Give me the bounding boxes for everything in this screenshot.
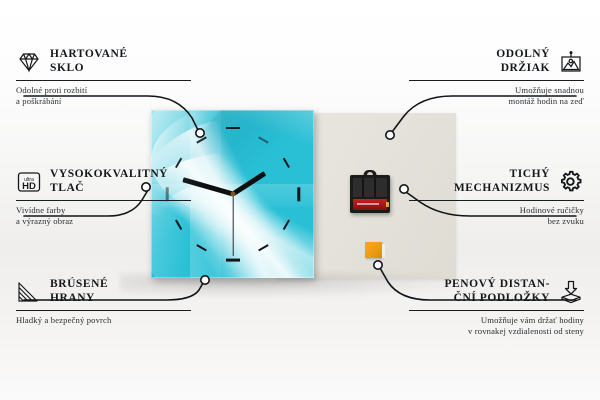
divider xyxy=(16,200,191,201)
feature-foam-spacers: PENOVÝ DISTAN- ČNÍ PODLOŽKY Umožňuje vám… xyxy=(409,278,584,336)
divider xyxy=(16,80,191,81)
gear-icon xyxy=(558,169,584,195)
connector-dot-mechanism xyxy=(400,185,408,193)
divider xyxy=(409,310,584,311)
feature-title: BRÚSENÉ HRANY xyxy=(50,278,108,305)
diamond-icon xyxy=(16,49,42,75)
wall-frame-icon xyxy=(558,49,584,75)
divider xyxy=(409,80,584,81)
feature-silent-mechanism: TICHÝ MECHANIZMUS Hodinové ručičky bez z… xyxy=(409,168,584,226)
connector-dot-edges xyxy=(201,276,209,284)
feature-title: HARTOVANÉ SKLO xyxy=(50,48,128,75)
feature-description: Umožňuje vám držať hodiny v rovnakej vzd… xyxy=(409,315,584,336)
connector-dot-foam xyxy=(374,261,382,269)
feature-description: Vivídne farby a výrazný obraz xyxy=(16,205,191,226)
feature-ground-edges: BRÚSENÉ HRANY Hladký a bezpečný povrch xyxy=(16,278,191,326)
ultra-hd-icon: ultra HD xyxy=(16,169,42,195)
brushed-edges-icon xyxy=(16,279,42,305)
feature-title: PENOVÝ DISTAN- ČNÍ PODLOŽKY xyxy=(444,278,550,305)
feature-title: VYSOKOKVALITNÝ TLAČ xyxy=(50,168,168,195)
svg-text:HD: HD xyxy=(22,181,36,192)
divider xyxy=(409,200,584,201)
press-down-pad-icon xyxy=(558,279,584,305)
feature-tempered-glass: HARTOVANÉ SKLO Odolné proti rozbití a po… xyxy=(16,48,191,106)
feature-title: ODOLNÝ DRŽIAK xyxy=(496,48,550,75)
divider xyxy=(16,310,191,311)
feature-high-quality-print: ultra HD VYSOKOKVALITNÝ TLAČ Vivídne far… xyxy=(16,168,191,226)
connector-dot-tempered-glass xyxy=(196,129,204,137)
connector-dot-holder xyxy=(386,131,394,139)
feature-description: Hodinové ručičky bez zvuku xyxy=(409,205,584,226)
feature-description: Umožňuje snadnou montáž hodin na zeď xyxy=(409,85,584,106)
infographic-canvas: HARTOVANÉ SKLO Odolné proti rozbití a po… xyxy=(0,0,600,400)
feature-description: Odolné proti rozbití a poškrábání xyxy=(16,85,191,106)
feature-title: TICHÝ MECHANIZMUS xyxy=(454,168,550,195)
feature-durable-holder: ODOLNÝ DRŽIAK Umožňuje snadnou montáž ho… xyxy=(409,48,584,106)
feature-description: Hladký a bezpečný povrch xyxy=(16,315,191,326)
